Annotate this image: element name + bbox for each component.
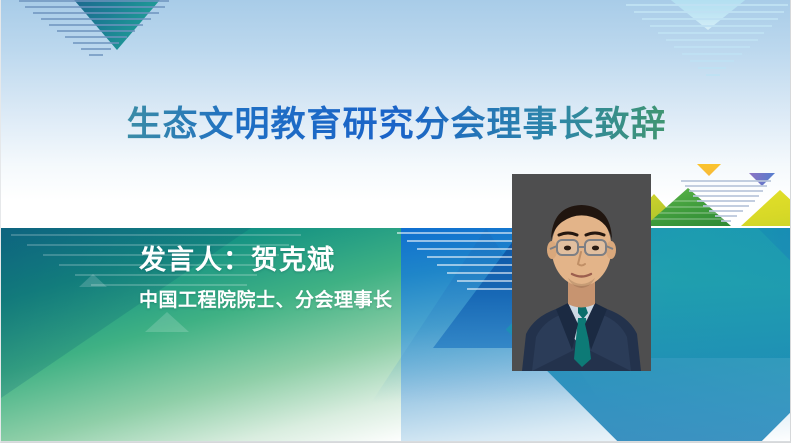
band-deco-triangle-icon [145, 312, 189, 332]
top-left-stripes-icon [5, 0, 185, 62]
speaker-name: 发言人：贺克斌 [139, 238, 335, 277]
decor-mountains-group [631, 160, 791, 230]
bottom-border [1, 441, 791, 442]
presentation-slide: 生态文明教育研究分会理事长致辞 [0, 0, 791, 443]
speaker-portrait-illustration [512, 174, 651, 371]
band-deco-triangle-icon [79, 274, 107, 287]
footer-band [1, 228, 791, 443]
triangle-orange-icon [697, 164, 721, 176]
page-title: 生态文明教育研究分会理事长致辞 [1, 103, 791, 147]
speaker-photo [512, 174, 651, 371]
speaker-role: 中国工程院院士、分会理事长 [139, 285, 393, 312]
top-right-stripes-icon [616, 0, 791, 86]
funnel-stripes-icon [679, 180, 773, 224]
